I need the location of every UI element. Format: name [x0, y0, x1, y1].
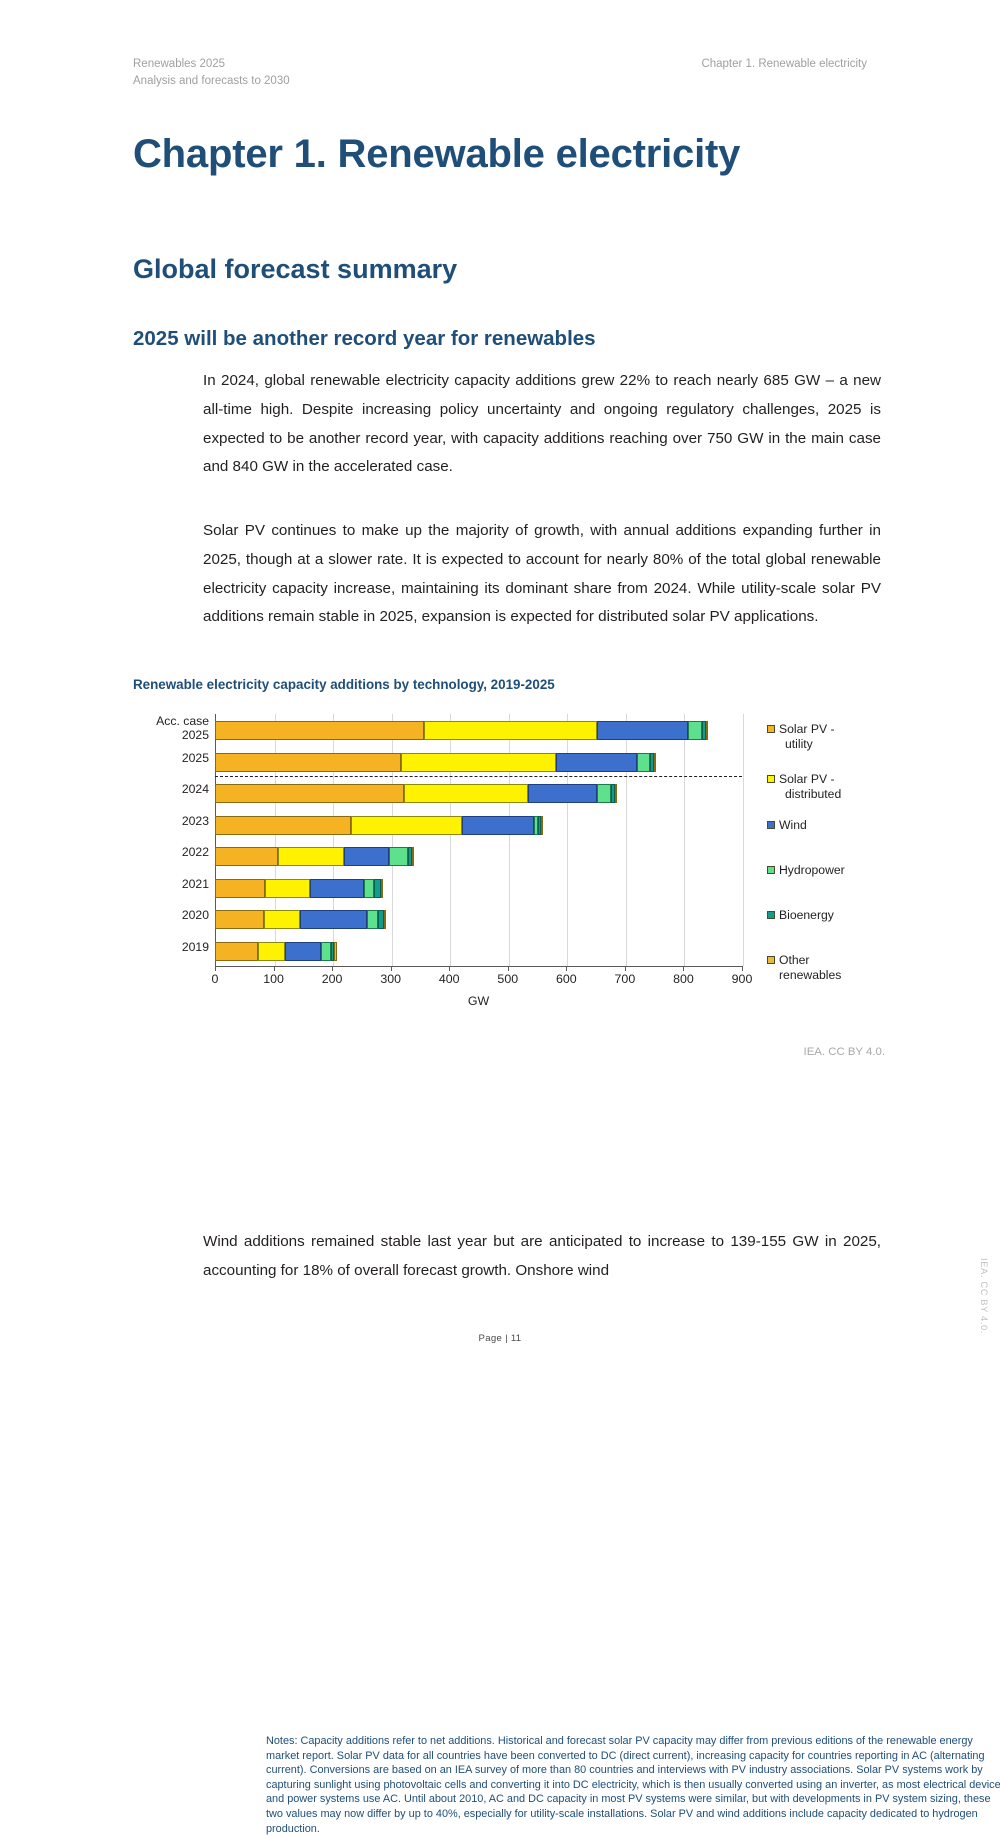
x-axis-tick-mark [683, 966, 684, 971]
chart-segment-wind [310, 879, 364, 898]
x-axis-tick-mark [332, 966, 333, 971]
figure-notes: Notes: Capacity additions refer to net a… [266, 1734, 1000, 1836]
legend-swatch-icon [767, 911, 775, 919]
x-axis-line [215, 966, 742, 967]
chart-category-label: 2022 [125, 845, 209, 859]
chart-bar-2021 [215, 879, 742, 898]
chart-category-label: 2019 [125, 940, 209, 954]
chart-segment-hydropower [321, 942, 331, 961]
chart-segment-solar-pv---distributed [401, 753, 556, 772]
legend-label: Solar PV -distributed [779, 772, 841, 802]
x-axis-tick-mark [215, 966, 216, 971]
side-credit: IEA. CC BY 4.0. [979, 1258, 990, 1334]
legend-swatch-icon [767, 866, 775, 874]
chart-category-label: 2025 [125, 751, 209, 765]
chapter-title: Chapter 1. Renewable electricity [133, 130, 893, 178]
legend-label: Hydropower [779, 863, 845, 878]
chart-bar-acc--case-2025 [215, 721, 742, 740]
x-axis-tick-label: 600 [556, 972, 577, 986]
chart-segment-other-renewables [706, 721, 708, 740]
chart-segment-other-renewables [381, 879, 383, 898]
chart-segment-wind [285, 942, 321, 961]
chart-segment-wind [300, 910, 367, 929]
chart-segment-solar-pv---distributed [258, 942, 285, 961]
chart-segment-solar-pv---utility [215, 910, 264, 929]
chart-segment-wind [344, 847, 390, 866]
legend-label: Wind [779, 818, 807, 833]
section-heading: Global forecast summary [133, 252, 893, 286]
body-paragraph-2: Solar PV continues to make up the majori… [203, 517, 881, 632]
chart-segment-hydropower [389, 847, 407, 866]
chart-segment-wind [528, 784, 597, 803]
x-axis-title: GW [215, 994, 742, 1008]
x-axis-tick-label: 500 [497, 972, 518, 986]
chart-segment-solar-pv---utility [215, 753, 401, 772]
chart-segment-solar-pv---utility [215, 847, 278, 866]
chart-segment-solar-pv---distributed [404, 784, 528, 803]
running-head-line1: Renewables 2025 [133, 56, 290, 73]
x-axis-tick-label: 100 [263, 972, 284, 986]
subsection-heading: 2025 will be another record year for ren… [133, 326, 893, 352]
chart-segment-hydropower [597, 784, 612, 803]
legend-item-solar-pv---utility[interactable]: Solar PV -utility [767, 722, 835, 752]
legend-label: Solar PV -utility [779, 722, 835, 752]
body-paragraph-1: In 2024, global renewable electricity ca… [203, 367, 881, 482]
x-axis-tick-mark [449, 966, 450, 971]
legend-label: Otherrenewables [779, 953, 841, 983]
legend-item-other-renewables[interactable]: Otherrenewables [767, 953, 841, 983]
chart-segment-other-renewables [654, 753, 656, 772]
legend-swatch-icon [767, 725, 775, 733]
legend-item-solar-pv---distributed[interactable]: Solar PV -distributed [767, 772, 841, 802]
chart-bar-2025 [215, 753, 742, 772]
chart-gridline [743, 714, 744, 966]
chart-segment-hydropower [367, 910, 378, 929]
x-axis-tick-label: 700 [615, 972, 636, 986]
x-axis-tick-mark [508, 966, 509, 971]
running-head: Renewables 2025 Analysis and forecasts t… [133, 56, 867, 102]
chart-segment-solar-pv---distributed [264, 910, 301, 929]
chart-segment-solar-pv---distributed [265, 879, 310, 898]
chart-segment-solar-pv---utility [215, 816, 351, 835]
legend-swatch-icon [767, 821, 775, 829]
x-axis-tick-mark [625, 966, 626, 971]
legend-swatch-icon [767, 775, 775, 783]
figure-title: Renewable electricity capacity additions… [133, 676, 885, 694]
chart-segment-solar-pv---distributed [278, 847, 344, 866]
chart-category-label: Acc. case2025 [125, 714, 209, 742]
chart-segment-solar-pv---utility [215, 721, 424, 740]
chart-category-label: 2024 [125, 782, 209, 796]
chart-segment-solar-pv---distributed [351, 816, 462, 835]
document-page: Renewables 2025 Analysis and forecasts t… [0, 0, 1000, 1414]
running-head-line2: Analysis and forecasts to 2030 [133, 73, 290, 90]
x-axis-tick-label: 0 [212, 972, 219, 986]
running-head-left: Renewables 2025 Analysis and forecasts t… [133, 56, 290, 89]
chart-segment-other-renewables [541, 816, 543, 835]
chart-segment-wind [556, 753, 637, 772]
x-axis-tick-label: 300 [380, 972, 401, 986]
chart-segment-hydropower [364, 879, 374, 898]
chart-bar-2022 [215, 847, 742, 866]
chart-bar-2023 [215, 816, 742, 835]
chart-segment-other-renewables [384, 910, 386, 929]
figure-block: Renewable electricity capacity additions… [133, 676, 885, 1020]
chart-segment-wind [462, 816, 533, 835]
x-axis-tick-mark [742, 966, 743, 971]
running-head-right: Chapter 1. Renewable electricity [701, 56, 867, 73]
chart-bar-2019 [215, 942, 742, 961]
chart-segment-solar-pv---utility [215, 942, 258, 961]
x-axis-tick-label: 400 [439, 972, 460, 986]
x-axis-tick-mark [566, 966, 567, 971]
legend-item-wind[interactable]: Wind [767, 818, 807, 833]
x-axis-tick-label: 900 [732, 972, 753, 986]
chart-segment-solar-pv---utility [215, 784, 404, 803]
chart-category-label: 2023 [125, 814, 209, 828]
legend-item-hydropower[interactable]: Hydropower [767, 863, 845, 878]
legend-label: Bioenergy [779, 908, 834, 923]
body-paragraph-3: Wind additions remained stable last year… [203, 1228, 881, 1286]
chart-bar-2024 [215, 784, 742, 803]
chart-segment-other-renewables [334, 942, 336, 961]
chart-canvas: GW Solar PV -utilitySolar PV -distribute… [133, 700, 885, 1020]
chart-category-label: 2020 [125, 908, 209, 922]
x-axis-tick-mark [391, 966, 392, 971]
chart-segment-wind [597, 721, 688, 740]
chart-segment-solar-pv---utility [215, 879, 265, 898]
legend-item-bioenergy[interactable]: Bioenergy [767, 908, 834, 923]
page-footer: Page | 11 [0, 1330, 1000, 1344]
chart-bar-2020 [215, 910, 742, 929]
page-number-label: Page | 11 [479, 1333, 522, 1344]
chart-segment-other-renewables [412, 847, 414, 866]
chart-segment-other-renewables [615, 784, 617, 803]
forecast-separator-line [215, 776, 742, 777]
chart-segment-solar-pv---distributed [424, 721, 597, 740]
x-axis-tick-label: 800 [673, 972, 694, 986]
chart-segment-hydropower [637, 753, 650, 772]
x-axis-tick-label: 200 [322, 972, 343, 986]
chart-category-label: 2021 [125, 877, 209, 891]
x-axis-tick-mark [274, 966, 275, 971]
chart-segment-hydropower [688, 721, 702, 740]
legend-swatch-icon [767, 956, 775, 964]
figure-credit: IEA. CC BY 4.0. [804, 1046, 885, 1058]
